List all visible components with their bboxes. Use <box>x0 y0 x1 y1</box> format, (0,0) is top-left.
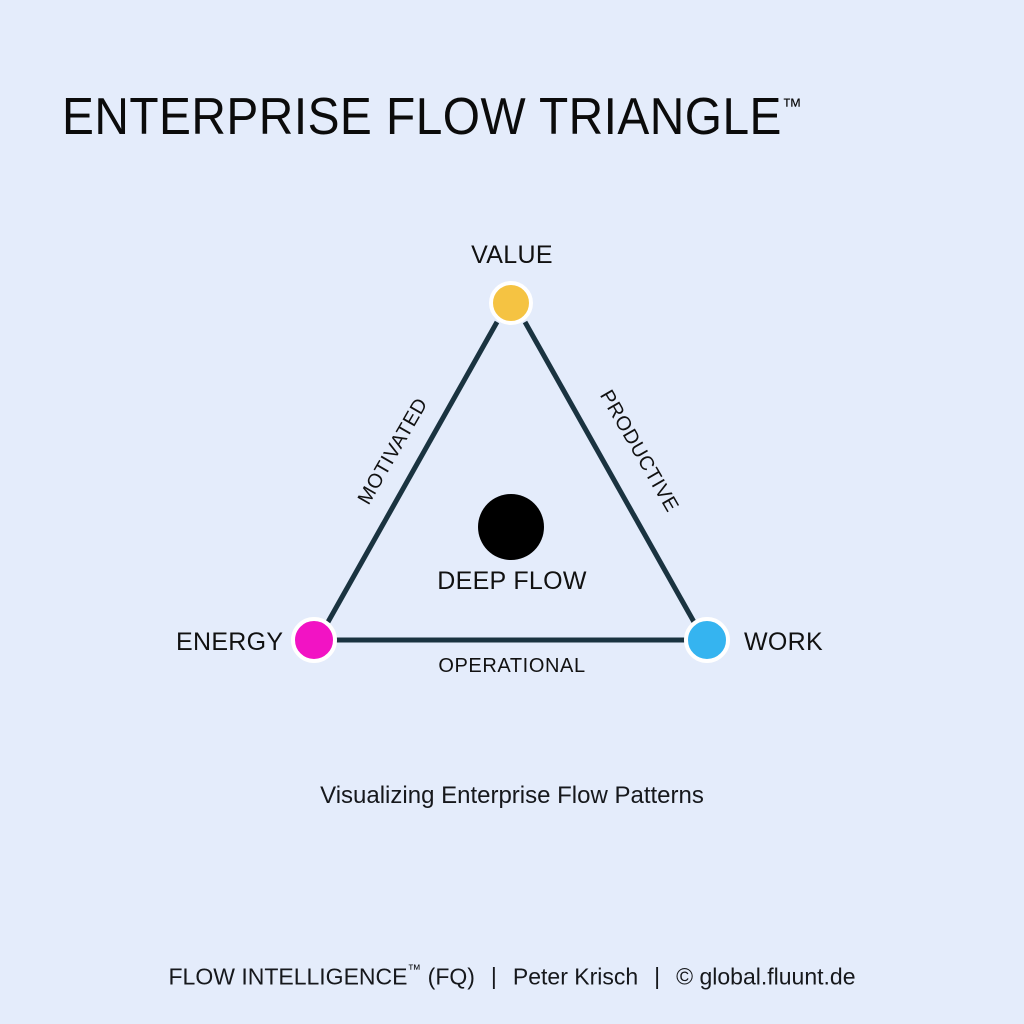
footer-separator-2: | <box>638 963 676 990</box>
node-deep-flow[interactable] <box>478 494 544 560</box>
node-label-work: WORK <box>744 628 823 657</box>
footer: FLOW INTELLIGENCE™ (FQ)|Peter Krisch|© g… <box>0 962 1024 990</box>
footer-author: Peter Krisch <box>513 963 638 989</box>
flow-triangle-diagram: VALUE ENERGY WORK DEEP FLOW MOTIVATED PR… <box>0 0 1024 1024</box>
footer-copyright: © global.fluunt.de <box>676 963 855 989</box>
node-label-deep-flow: DEEP FLOW <box>0 567 1024 596</box>
node-value[interactable] <box>489 281 533 325</box>
node-label-energy: ENERGY <box>176 628 283 657</box>
footer-trademark-icon: ™ <box>407 962 421 977</box>
footer-brand-suffix: (FQ) <box>421 963 475 989</box>
subtitle: Visualizing Enterprise Flow Patterns <box>0 782 1024 810</box>
edge-label-operational: OPERATIONAL <box>0 655 1024 678</box>
node-label-value: VALUE <box>0 241 1024 270</box>
footer-separator-1: | <box>475 963 513 990</box>
footer-brand: FLOW INTELLIGENCE <box>168 963 407 989</box>
